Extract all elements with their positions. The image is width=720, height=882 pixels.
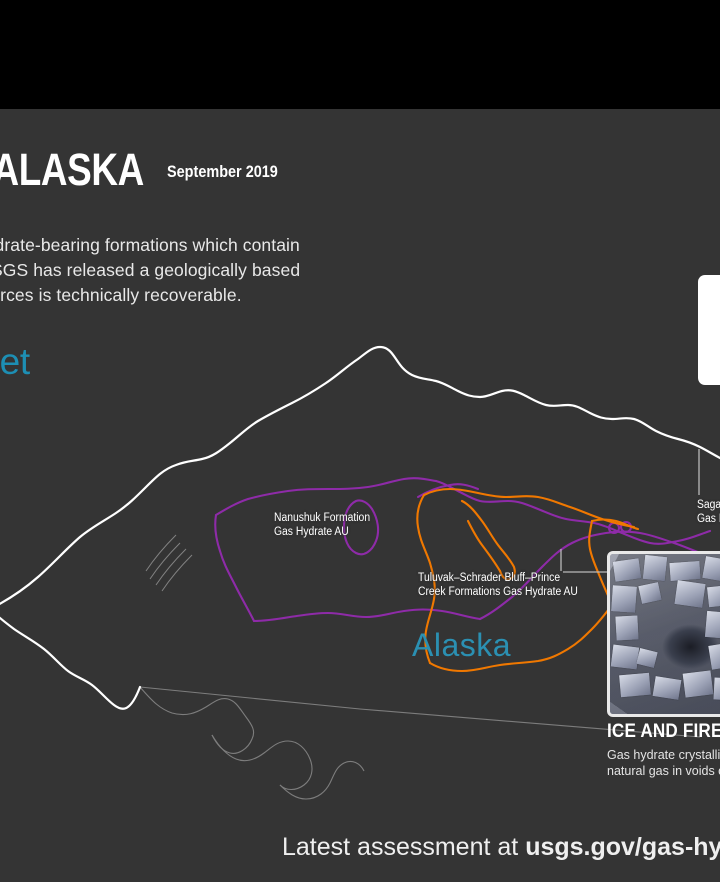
page-date: September 2019	[167, 162, 278, 182]
intro-line-1: Slope is rich in gas hydrate-bearing for…	[0, 233, 720, 258]
footer-url[interactable]: usgs.gov/gas-hy	[525, 833, 720, 861]
intro-line-2: gas resources. The USGS has released a g…	[0, 258, 720, 283]
stat-primary-line-3: th Slope.	[0, 421, 174, 438]
stat-primary-description: d technically recoverable s stored in hy…	[0, 387, 174, 438]
map-label-sagavanirktok: Sagava Gas Hy	[697, 499, 720, 526]
stat-primary-line-1: d technically recoverable	[0, 387, 174, 404]
hydrate-photo-image	[610, 554, 720, 714]
stat-primary-value: on cubic feet	[0, 341, 30, 383]
map-label-tuluvak: Tuluvak–Schrader Bluff–Prince Creek Form…	[418, 572, 578, 599]
stat-tertiary-line-1: ate	[0, 621, 174, 638]
footnote-line-1: 8-trillion-cubic-	[0, 754, 154, 767]
map-label-nanushuk: Nanushuk Formation Gas Hydrate AU	[274, 512, 370, 539]
stat-primary-line-2: s stored in hydrate-bearing	[0, 404, 174, 421]
map-label-tuluvak-line-2: Creek Formations Gas Hydrate AU	[418, 586, 578, 600]
stat-secondary-description: e Slope.	[0, 484, 174, 518]
stat-tertiary-description: ate	[0, 621, 174, 638]
stat-secondary-line-1: e	[0, 484, 174, 501]
poster-header: RATES in ALASKASeptember 2019	[0, 147, 542, 192]
hydrate-photo	[607, 551, 720, 717]
footer-banner-text: Latest assessment at usgs.gov/gas-hy	[282, 833, 720, 862]
legend-card-cropped	[698, 275, 720, 385]
photo-caption-line-2: natural gas in voids o	[607, 763, 720, 779]
footnote-line-2: th-slope	[0, 767, 154, 780]
photo-caption-body: Gas hydrate crystallin natural gas in vo…	[607, 747, 720, 779]
map-region-label: Alaska	[412, 627, 511, 664]
map-label-nanushuk-line-2: Gas Hydrate AU	[274, 526, 370, 540]
screenshot-root: RATES in ALASKASeptember 2019 Slope is r…	[0, 0, 720, 882]
source-footnote: 8-trillion-cubic- th-slope .pdf	[0, 754, 154, 792]
photo-caption-title: ICE AND FIRE	[607, 721, 720, 743]
map-hatch-marks	[146, 535, 192, 591]
photo-caption-line-1: Gas hydrate crystallin	[607, 747, 720, 763]
intro-paragraph: Slope is rich in gas hydrate-bearing for…	[0, 233, 720, 308]
letterbox-top	[0, 0, 720, 109]
footer-prefix: Latest assessment at	[282, 833, 525, 861]
map-label-sagavanirktok-line-2: Gas Hy	[697, 513, 720, 527]
map-label-sagavanirktok-line-1: Sagava	[697, 499, 720, 513]
map-label-nanushuk-line-1: Nanushuk Formation	[274, 512, 370, 526]
map-label-tuluvak-line-1: Tuluvak–Schrader Bluff–Prince	[418, 572, 578, 586]
footnote-line-3: .pdf	[0, 779, 154, 792]
page-title: RATES in ALASKA	[0, 147, 144, 192]
intro-line-3: w much of these resources is technically…	[0, 283, 720, 308]
stat-secondary-line-2: Slope.	[0, 501, 174, 518]
infographic-poster: RATES in ALASKASeptember 2019 Slope is r…	[0, 109, 720, 882]
